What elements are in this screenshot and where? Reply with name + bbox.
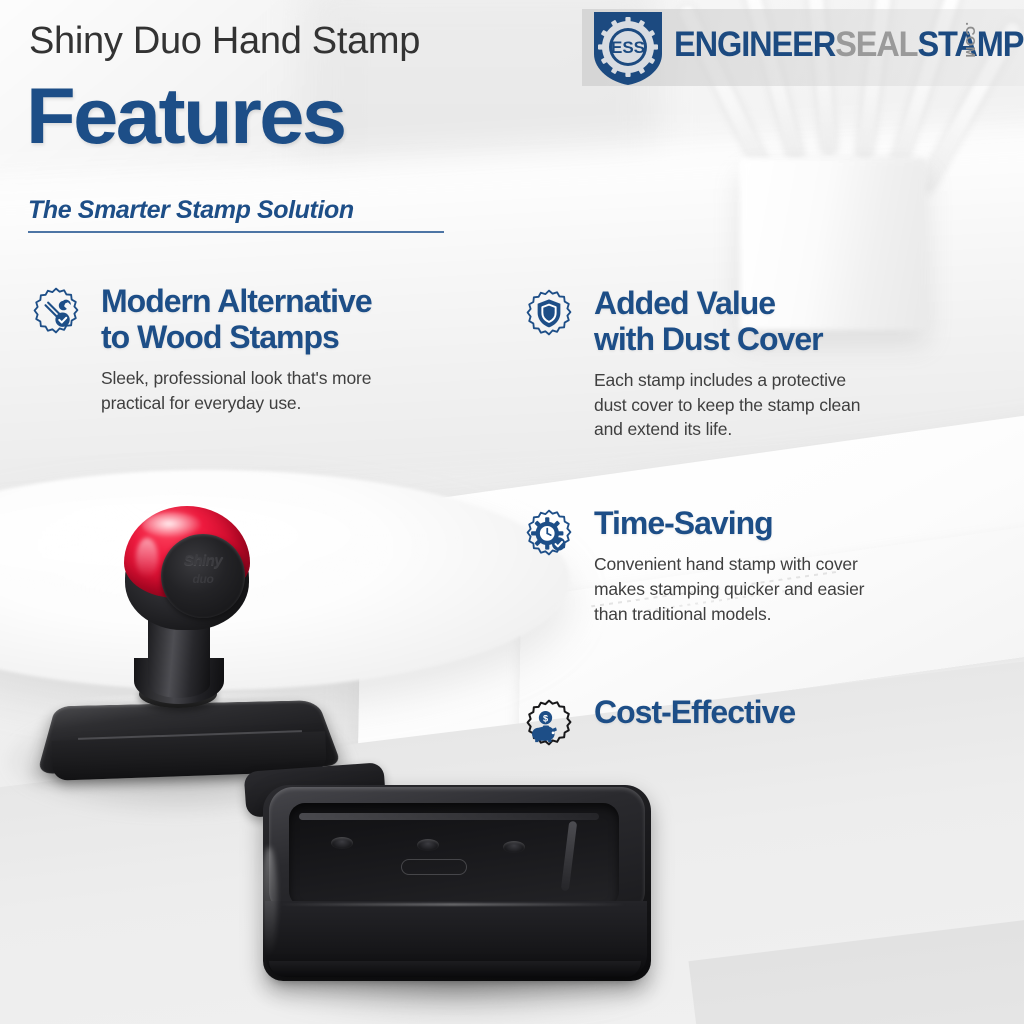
ess-gear-shield-icon: ESS	[591, 10, 665, 86]
stamp-brand-line-2: duo	[173, 572, 233, 586]
feature-title: Time-Saving	[594, 506, 864, 542]
feature-item-time-saving: Time-Saving Convenient hand stamp with c…	[521, 506, 991, 626]
stamp-brand-line-1: Shiny	[173, 552, 233, 569]
subtitle-divider	[28, 231, 444, 233]
page-title: Features	[26, 78, 345, 153]
background-desk-surface-2	[688, 900, 1024, 1024]
feature-item-added-value: Added Value with Dust Cover Each stamp i…	[521, 286, 991, 442]
svg-text:$: $	[543, 714, 548, 724]
gear-clock-badge-icon	[521, 508, 577, 564]
dust-cover-foot	[269, 961, 641, 977]
piggy-bank-badge-icon: $	[521, 698, 577, 754]
dust-cover-dimple	[417, 839, 439, 851]
brand-logo[interactable]: ESS ENGINEERSEALSTAMPS	[582, 9, 1024, 86]
feature-title: Added Value with Dust Cover	[594, 286, 860, 358]
stamp-knob-gloss-2	[136, 538, 158, 578]
infographic-canvas: Shiny Duo Hand Stamp	[0, 0, 1024, 1024]
feature-text: Added Value with Dust Cover Each stamp i…	[594, 286, 860, 442]
dust-cover-side-highlight	[261, 847, 277, 957]
feature-title: Modern Alternative to Wood Stamps	[101, 284, 372, 356]
wordmark-seal: SEAL	[835, 25, 917, 64]
subtitle-group: The Smarter Stamp Solution	[28, 196, 448, 233]
product-title: Shiny Duo Hand Stamp	[29, 20, 420, 63]
feature-description: Each stamp includes a protective dust co…	[594, 368, 860, 443]
wordmark-tld: .COM	[963, 22, 978, 58]
feature-item-cost-effective: $ Cost-Effective	[521, 696, 991, 754]
feature-text: Time-Saving Convenient hand stamp with c…	[594, 506, 864, 626]
tools-check-badge-icon	[28, 286, 84, 342]
shield-badge-icon	[521, 288, 577, 344]
feature-description: Convenient hand stamp with cover makes s…	[594, 552, 864, 627]
feature-text: Cost-Effective	[594, 696, 795, 738]
product-image-dust-cover	[255, 775, 675, 1015]
subtitle: The Smarter Stamp Solution	[28, 196, 448, 225]
header: Shiny Duo Hand Stamp	[0, 0, 1024, 250]
dust-cover-dimple	[503, 841, 525, 853]
feature-item-modern-alternative: Modern Alternative to Wood Stamps Sleek,…	[28, 284, 508, 415]
dust-cover-edge-highlight	[277, 903, 627, 906]
ess-emblem-text: ESS	[611, 38, 645, 57]
feature-title: Cost-Effective	[594, 696, 795, 728]
feature-text: Modern Alternative to Wood Stamps Sleek,…	[101, 284, 372, 415]
wordmark-engineer: ENGINEER	[674, 25, 835, 64]
feature-description: Sleek, professional look that's more pra…	[101, 366, 372, 416]
dust-cover-ledge	[299, 813, 599, 820]
dust-cover-emboss	[401, 859, 467, 875]
dust-cover-dimple	[331, 837, 353, 849]
